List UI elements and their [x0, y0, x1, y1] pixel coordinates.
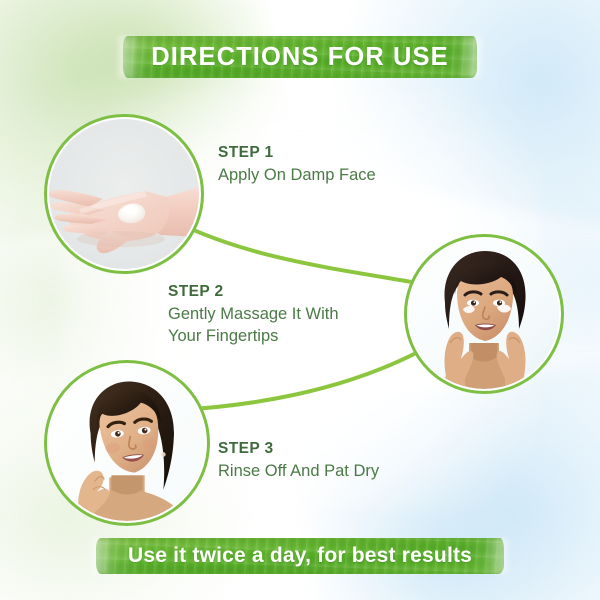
- step-2-label: STEP 2: [168, 283, 418, 300]
- footer-note: Use it twice a day, for best results: [128, 544, 472, 568]
- step-1-description: Apply On Damp Face: [218, 164, 468, 186]
- step-1-image-circle: [44, 114, 204, 274]
- step-2-description: Gently Massage It With Your Fingertips: [168, 303, 418, 347]
- step-1-text-block: STEP 1 Apply On Damp Face: [218, 144, 468, 186]
- step-3-label: STEP 3: [218, 440, 468, 457]
- connector-step1-to-step2: [176, 222, 412, 282]
- connector-step2-to-step3: [178, 352, 418, 410]
- step-2-text-block: STEP 2 Gently Massage It With Your Finge…: [168, 283, 418, 347]
- page-title: DIRECTIONS FOR USE: [151, 43, 449, 72]
- step-3-image-circle: [44, 360, 210, 526]
- step-1-circle-ring: [44, 114, 204, 274]
- step-1-label: STEP 1: [218, 144, 468, 161]
- step-3-circle-ring: [44, 360, 210, 526]
- step-2-description-line-1: Gently Massage It With: [168, 305, 339, 323]
- step-2-image-circle: [404, 234, 564, 394]
- directions-for-use-poster: DIRECTIONS FOR USE: [0, 0, 600, 600]
- footer-banner: Use it twice a day, for best results: [96, 538, 504, 574]
- step-3-description: Rinse Off And Pat Dry: [218, 460, 468, 482]
- step-2-circle-ring: [404, 234, 564, 394]
- step-2-description-line-2: Your Fingertips: [168, 327, 278, 345]
- step-3-text-block: STEP 3 Rinse Off And Pat Dry: [218, 440, 468, 482]
- header-banner: DIRECTIONS FOR USE: [123, 36, 477, 78]
